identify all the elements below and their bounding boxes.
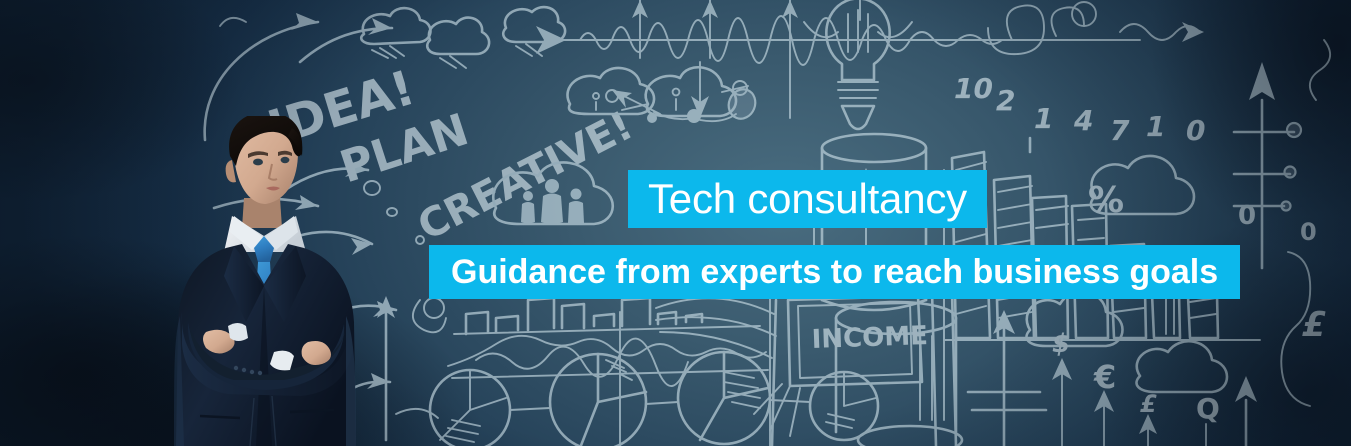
hero-banner: IDEA! PLAN CREATIVE! (0, 0, 1351, 446)
headline-bar: Tech consultancy (628, 170, 987, 228)
page-title: Tech consultancy (648, 178, 967, 220)
page-subtitle: Guidance from experts to reach business … (451, 255, 1218, 289)
businessman-photo (168, 116, 364, 446)
subheadline-bar: Guidance from experts to reach business … (429, 245, 1240, 299)
